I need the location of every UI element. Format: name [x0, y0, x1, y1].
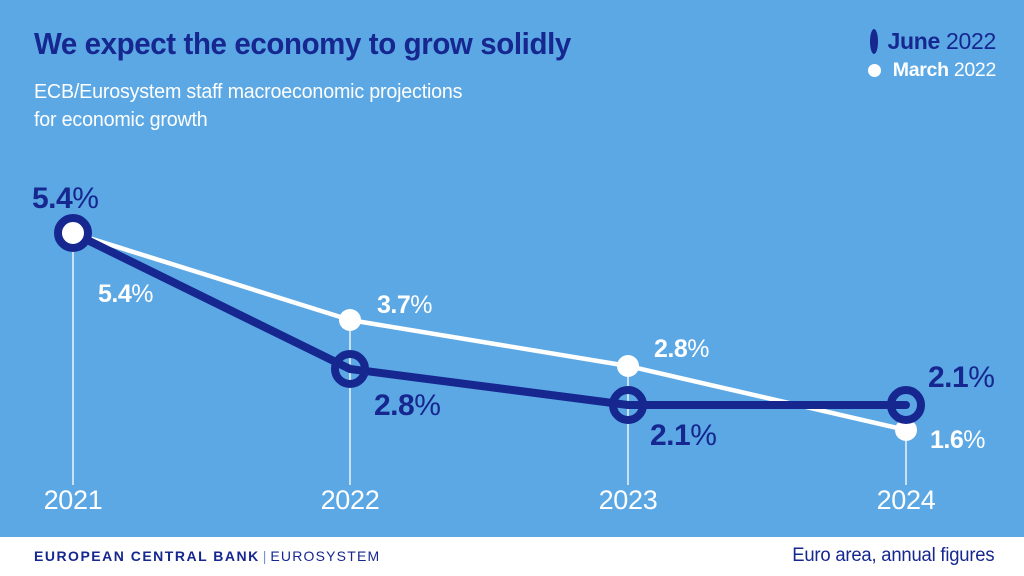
data-label-june-2022: 2.8% — [374, 391, 440, 421]
footer-logo-secondary: EUROSYSTEM — [270, 548, 380, 564]
subtitle-line-1: ECB/Eurosystem staff macroeconomic proje… — [34, 78, 462, 106]
series-march-2022 — [73, 233, 917, 441]
legend-item-june-label: June 2022 — [887, 28, 996, 55]
march-2022-line — [73, 233, 906, 430]
page-title: We expect the economy to grow solidly — [34, 26, 571, 62]
data-label-june-2023: 2.1% — [650, 421, 716, 451]
data-label-june-2024: 2.1% — [928, 363, 994, 393]
footer-note: Euro area, annual figures — [792, 545, 994, 567]
dot-marker-icon — [868, 64, 881, 77]
x-axis-tick-2023: 2023 — [599, 485, 658, 516]
footer-logo-primary: EUROPEAN CENTRAL BANK — [34, 548, 260, 564]
march-2022-point-2023[interactable] — [617, 355, 639, 377]
chart-svg — [0, 160, 1024, 537]
footer-logo-separator: | — [263, 548, 267, 564]
page-subtitle: ECB/Eurosystem staff macroeconomic proje… — [34, 78, 462, 134]
header: We expect the economy to grow solidly EC… — [0, 0, 1024, 160]
ecb-logo-wordmark: EUROPEAN CENTRAL BANK|EUROSYSTEM — [34, 548, 380, 564]
data-label-march-2021: 5.4% — [98, 282, 153, 307]
x-axis-tick-2021: 2021 — [44, 485, 103, 516]
data-label-march-2023: 2.8% — [654, 337, 709, 362]
legend-march-name: March — [893, 59, 949, 81]
shared-point-2021[interactable] — [58, 218, 88, 248]
legend-item-march-2022[interactable]: March 2022 — [786, 59, 996, 82]
legend-june-year: 2022 — [946, 28, 996, 54]
chart-plot-area: 5.4% 5.4% 3.7% 2.8% 2.8% 2.1% 2.1% 1.6% — [0, 160, 1024, 537]
ring-marker-icon — [870, 33, 878, 51]
legend-item-march-label: March 2022 — [893, 59, 996, 82]
ecb-growth-projections-infographic: We expect the economy to grow solidly EC… — [0, 0, 1024, 576]
x-axis-tick-2022: 2022 — [321, 485, 380, 516]
data-label-march-2024: 1.6% — [930, 428, 985, 453]
series-june-2022 — [73, 233, 921, 420]
subtitle-line-2: for economic growth — [34, 106, 462, 134]
data-label-june-2021: 5.4% — [32, 184, 98, 214]
legend-item-june-2022[interactable]: June 2022 — [786, 28, 996, 55]
point-2021-marker[interactable] — [58, 218, 88, 248]
x-axis: 2021 2022 2023 2024 — [0, 485, 1024, 537]
chart-legend: June 2022 March 2022 — [786, 28, 996, 82]
x-axis-tick-2024: 2024 — [877, 485, 936, 516]
legend-march-year: 2022 — [954, 59, 996, 81]
june-2022-line — [73, 233, 906, 405]
march-2022-point-2022[interactable] — [339, 309, 361, 331]
legend-june-name: June — [887, 28, 939, 54]
data-label-march-2022: 3.7% — [377, 293, 432, 318]
footer: EUROPEAN CENTRAL BANK|EUROSYSTEM Euro ar… — [0, 537, 1024, 576]
